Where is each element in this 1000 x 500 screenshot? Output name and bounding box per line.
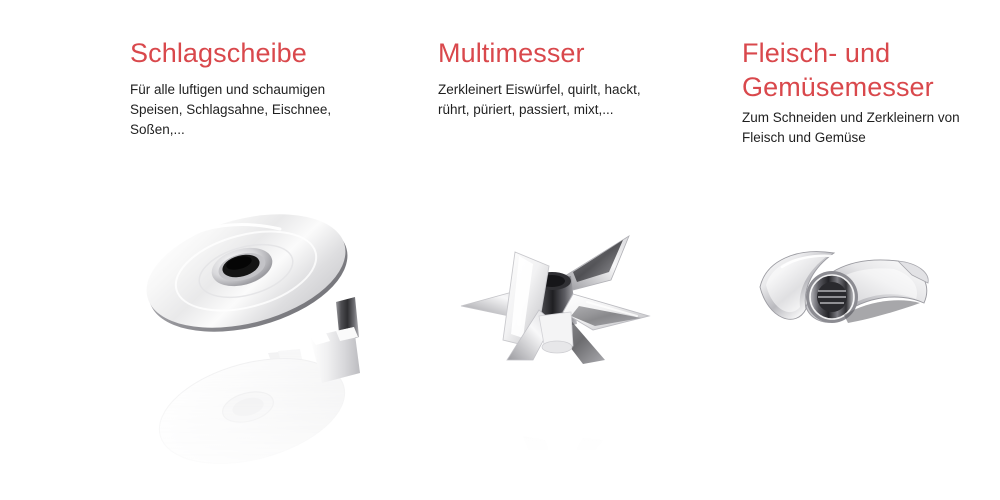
product-description-fleisch-und-gemuesemesser: Zum Schneiden und Zerkleinern von Fleisc… [742, 108, 972, 148]
product-description-multimesser: Zerkleinert Eiswürfel, quirlt, hackt, rü… [438, 80, 668, 120]
whisking-disc-product-image [140, 185, 390, 475]
whisking-disc-body [140, 194, 360, 383]
product-column-schlagscheibe: Schlagscheibe Für alle luftigen und scha… [130, 0, 420, 500]
multi-blade-product-image [453, 220, 673, 450]
whisking-disc-illustration [140, 185, 390, 475]
product-title-schlagscheibe: Schlagscheibe [130, 36, 307, 70]
product-title-fleisch-und-gemuesemesser: Fleisch- und Gemüsemesser [742, 36, 972, 104]
meat-vegetable-blade-illustration [752, 245, 952, 435]
product-accessories-panel: Schlagscheibe Für alle luftigen und scha… [0, 0, 1000, 500]
product-description-schlagscheibe: Für alle luftigen und schaumigen Speisen… [130, 80, 360, 140]
product-column-multimesser: Multimesser Zerkleinert Eiswürfel, quirl… [438, 0, 728, 500]
product-column-fleisch-und-gemuesemesser: Fleisch- und Gemüsemesser Zum Schneiden … [742, 0, 992, 500]
meat-vegetable-blade-product-image [752, 245, 952, 435]
product-title-multimesser: Multimesser [438, 36, 585, 70]
meat-vegetable-blade-body [760, 252, 928, 323]
multi-blade-reflection [473, 436, 631, 450]
multi-blade-illustration [453, 220, 673, 450]
multi-blade-body [461, 236, 649, 364]
